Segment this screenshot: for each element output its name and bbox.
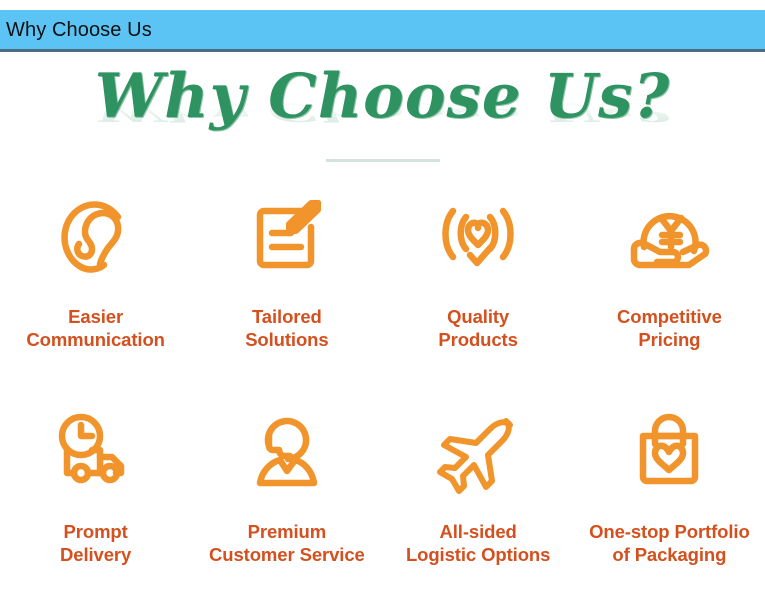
feature-item-premium-customer-service[interactable]: Premium Customer Service <box>191 396 382 611</box>
features-row-1: Easier Communication Tailored Solutions <box>0 181 765 396</box>
hand-holding-yen-coin-icon <box>617 185 721 289</box>
feature-label: All-sided Logistic Options <box>406 520 550 566</box>
hero-heading-block: Why Choose Us? Why Choose Us? <box>0 55 765 165</box>
features-row-2: Prompt Delivery Premium Customer Service <box>0 396 765 611</box>
feature-item-quality-products[interactable]: Quality Products <box>383 181 574 396</box>
title-divider <box>326 159 440 162</box>
delivery-truck-clock-icon <box>44 400 148 504</box>
feature-label: Easier Communication <box>26 305 164 351</box>
feature-label: Premium Customer Service <box>209 520 365 566</box>
feature-item-tailored-solutions[interactable]: Tailored Solutions <box>191 181 382 396</box>
feature-item-competitive-pricing[interactable]: Competitive Pricing <box>574 181 765 396</box>
feature-item-all-sided-logistic-options[interactable]: All-sided Logistic Options <box>383 396 574 611</box>
page-title: Why Choose Us? <box>0 61 765 133</box>
airplane-icon <box>426 400 530 504</box>
feature-label: Tailored Solutions <box>245 305 328 351</box>
headset-agent-icon <box>235 400 339 504</box>
shopping-bag-heart-icon <box>617 400 721 504</box>
ear-in-circle-icon <box>44 185 148 289</box>
feature-label: Prompt Delivery <box>60 520 131 566</box>
feature-item-easier-communication[interactable]: Easier Communication <box>0 181 191 396</box>
window-header-bar: Why Choose Us <box>0 10 765 52</box>
document-pencil-icon <box>235 185 339 289</box>
feature-label: Competitive Pricing <box>617 305 722 351</box>
heart-waves-check-icon <box>426 185 530 289</box>
page-content: Why Choose Us? Why Choose Us? Easier Com… <box>0 55 765 599</box>
features-grid: Easier Communication Tailored Solutions <box>0 181 765 611</box>
feature-item-one-stop-portfolio-of-packaging[interactable]: One-stop Portfolio of Packaging <box>574 396 765 611</box>
feature-label: One-stop Portfolio of Packaging <box>589 520 750 566</box>
feature-item-prompt-delivery[interactable]: Prompt Delivery <box>0 396 191 611</box>
window-title: Why Choose Us <box>0 20 152 40</box>
feature-label: Quality Products <box>438 305 517 351</box>
